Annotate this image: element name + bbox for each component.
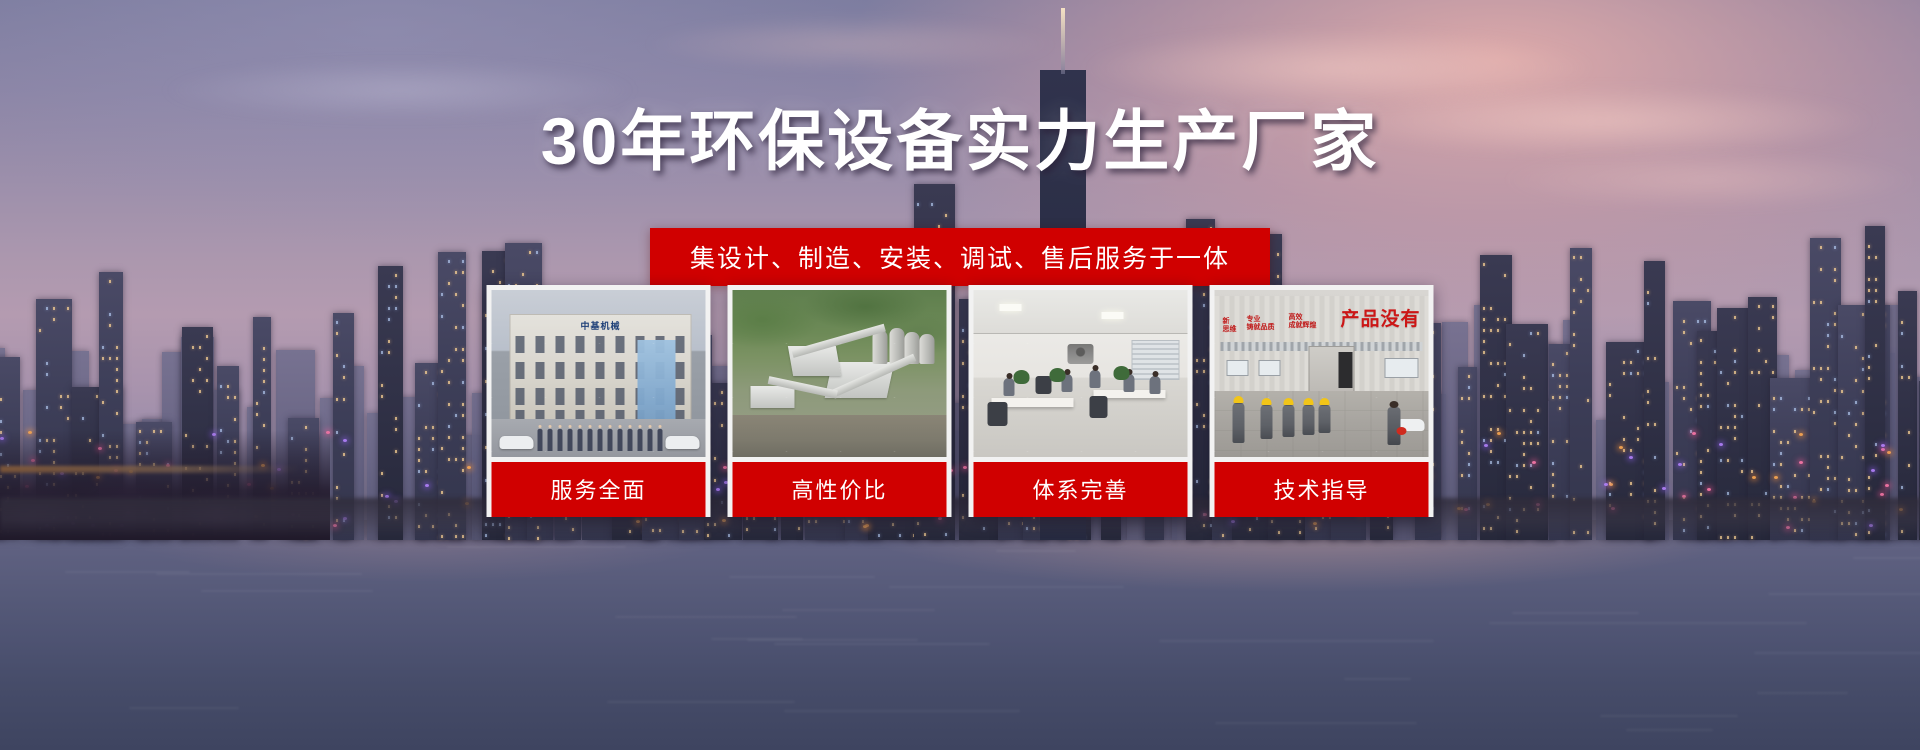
window-light	[1834, 378, 1836, 381]
window-light	[1623, 416, 1625, 419]
window-light	[1516, 464, 1518, 467]
window-light	[1727, 382, 1729, 385]
window-light	[448, 436, 450, 439]
office-interior-photo	[974, 290, 1188, 457]
window-light	[455, 414, 457, 417]
window-light	[1875, 256, 1877, 259]
window-light	[67, 395, 69, 398]
window-light	[1683, 463, 1685, 466]
window-light	[1559, 374, 1561, 377]
window-light	[1490, 461, 1492, 464]
window-light	[1855, 401, 1857, 404]
window-light	[1461, 430, 1463, 433]
window-light	[395, 417, 397, 420]
window-light	[1741, 470, 1743, 473]
window-light	[1697, 320, 1699, 323]
window-light	[1820, 455, 1822, 458]
window-light	[1820, 301, 1822, 304]
window-light	[256, 413, 258, 416]
company-building-photo: 中基机械	[492, 290, 706, 457]
window-light	[536, 251, 538, 254]
window-light	[192, 379, 194, 382]
water-ripple	[729, 576, 875, 578]
window-light	[462, 326, 464, 329]
window-light	[1490, 439, 1492, 442]
window-light	[1734, 415, 1736, 418]
window-light	[1566, 396, 1568, 399]
window-light	[116, 368, 118, 371]
window-light	[1834, 422, 1836, 425]
window-light	[199, 390, 201, 393]
window-light	[109, 357, 111, 360]
hero-banner: 30年环保设备实力生产厂家 集设计、制造、安装、调试、售后服务于一体 中基机械	[0, 0, 1920, 750]
window-light	[1855, 346, 1857, 349]
window-light	[336, 321, 338, 324]
window-light	[388, 318, 390, 321]
window-light	[1497, 428, 1499, 431]
water-ripple	[607, 701, 795, 703]
window-light	[1523, 354, 1525, 357]
window-light	[336, 486, 338, 489]
window-light	[448, 403, 450, 406]
window-light	[1855, 423, 1857, 426]
subtitle-badge: 集设计、制造、安装、调试、售后服务于一体	[650, 228, 1270, 286]
window-light	[1483, 351, 1485, 354]
window-light	[1741, 415, 1743, 418]
window-light	[1734, 360, 1736, 363]
window-light	[448, 260, 450, 263]
window-light	[462, 359, 464, 362]
window-light	[1497, 461, 1499, 464]
window-light	[1758, 349, 1760, 352]
window-light	[227, 396, 229, 399]
window-light	[60, 406, 62, 409]
window-light	[1908, 376, 1910, 379]
watermark-overlay	[733, 290, 947, 457]
window-light	[1654, 357, 1656, 360]
window-light	[462, 436, 464, 439]
water-ripple	[784, 710, 1021, 712]
window-light	[462, 260, 464, 263]
window-light	[462, 304, 464, 307]
window-light	[1875, 289, 1877, 292]
window-light	[1580, 465, 1582, 468]
window-light	[1609, 383, 1611, 386]
window-light	[46, 362, 48, 365]
window-light	[1834, 246, 1836, 249]
window-light	[1587, 399, 1589, 402]
window-light	[1820, 268, 1822, 271]
window-light	[448, 359, 450, 362]
building	[1810, 238, 1841, 540]
window-light	[1773, 397, 1775, 400]
window-light	[1700, 361, 1702, 364]
window-light	[1623, 449, 1625, 452]
window-light	[1868, 245, 1870, 248]
window-light	[1751, 470, 1753, 473]
window-light	[116, 346, 118, 349]
window-light	[1490, 450, 1492, 453]
window-light	[1683, 386, 1685, 389]
window-light	[1751, 371, 1753, 374]
water-ripple	[782, 609, 935, 611]
window-light	[336, 431, 338, 434]
window-light	[1683, 320, 1685, 323]
window-light	[1787, 485, 1789, 488]
aerial-plant-photo	[733, 290, 947, 457]
window-light	[1734, 426, 1736, 429]
window-light	[448, 458, 450, 461]
feature-card-label: 技术指导	[1215, 462, 1429, 517]
feature-card[interactable]: 体系完善	[969, 285, 1193, 517]
window-light	[1700, 372, 1702, 375]
window-light	[67, 307, 69, 310]
window-light	[395, 285, 397, 288]
window-light	[462, 414, 464, 417]
window-light	[1834, 323, 1836, 326]
city-light	[1799, 433, 1803, 436]
window-light	[455, 458, 457, 461]
window-light	[227, 385, 229, 388]
tower-spire	[1061, 8, 1065, 74]
window-light	[1277, 253, 1279, 256]
window-light	[1794, 474, 1796, 477]
window-light	[336, 398, 338, 401]
window-light	[432, 382, 434, 385]
window-light	[395, 428, 397, 431]
window-light	[1630, 449, 1632, 452]
window-light	[1490, 395, 1492, 398]
window-light	[1537, 431, 1539, 434]
window-light	[1720, 371, 1722, 374]
window-light	[1827, 466, 1829, 469]
window-light	[1820, 367, 1822, 370]
window-light	[1647, 302, 1649, 305]
window-light	[263, 391, 265, 394]
window-light	[263, 347, 265, 350]
window-light	[1523, 409, 1525, 412]
water-ripple	[1215, 722, 1418, 724]
window-light	[53, 318, 55, 321]
window-light	[931, 203, 933, 206]
window-light	[1813, 301, 1815, 304]
window-light	[1908, 431, 1910, 434]
window-light	[1780, 463, 1782, 466]
window-light	[1758, 371, 1760, 374]
window-light	[388, 351, 390, 354]
window-light	[343, 398, 345, 401]
window-light	[1700, 383, 1702, 386]
window-light	[1483, 263, 1485, 266]
water-ripple	[615, 616, 797, 618]
window-light	[418, 470, 420, 473]
window-light	[1490, 428, 1492, 431]
water-ripple	[1853, 557, 1920, 559]
window-light	[1720, 426, 1722, 429]
window-light	[1580, 278, 1582, 281]
window-light	[1580, 300, 1582, 303]
window-light	[1741, 459, 1743, 462]
window-light	[1630, 372, 1632, 375]
window-light	[1834, 312, 1836, 315]
window-light	[1720, 459, 1722, 462]
window-light	[1468, 397, 1470, 400]
window-light	[1490, 329, 1492, 332]
window-light	[455, 348, 457, 351]
window-light	[1841, 335, 1843, 338]
water-ripple	[1768, 593, 1920, 595]
window-light	[448, 282, 450, 285]
window-light	[1623, 372, 1625, 375]
window-light	[1490, 362, 1492, 365]
window-light	[1707, 405, 1709, 408]
window-light	[395, 307, 397, 310]
window-light	[1827, 488, 1829, 491]
window-light	[192, 346, 194, 349]
page-title: 30年环保设备实力生产厂家	[0, 108, 1920, 174]
window-light	[116, 390, 118, 393]
window-light	[1780, 397, 1782, 400]
window-light	[1827, 477, 1829, 480]
window-light	[109, 324, 111, 327]
window-light	[1647, 357, 1649, 360]
window-light	[53, 307, 55, 310]
window-light	[1855, 489, 1857, 492]
window-light	[1552, 440, 1554, 443]
water-ripple	[1512, 612, 1639, 614]
window-light	[336, 332, 338, 335]
factory-workers-photo: 产品没有 新思维 专业铸就品质 高效成就辉煌	[1215, 290, 1429, 457]
window-light	[1848, 478, 1850, 481]
window-light	[1901, 376, 1903, 379]
watermark-overlay	[492, 290, 706, 457]
window-light	[1637, 427, 1639, 430]
window-light	[1683, 331, 1685, 334]
window-light	[418, 437, 420, 440]
window-light	[1483, 439, 1485, 442]
feature-card[interactable]: 产品没有 新思维 专业铸就品质 高效成就辉煌	[1210, 285, 1434, 517]
window-light	[1523, 431, 1525, 434]
window-light	[1772, 305, 1774, 308]
window-light	[46, 373, 48, 376]
window-light	[1820, 488, 1822, 491]
window-light	[1523, 464, 1525, 467]
window-light	[1623, 361, 1625, 364]
window-light	[388, 285, 390, 288]
water-ripple	[65, 571, 190, 573]
window-light	[199, 346, 201, 349]
window-light	[1530, 442, 1532, 445]
window-light	[1834, 279, 1836, 282]
window-light	[116, 357, 118, 360]
window-light	[1734, 349, 1736, 352]
window-light	[1908, 464, 1910, 467]
window-light	[448, 381, 450, 384]
window-light	[1734, 437, 1736, 440]
window-light	[1700, 460, 1702, 463]
window-light	[432, 448, 434, 451]
window-light	[1566, 440, 1568, 443]
window-light	[1580, 256, 1582, 259]
window-light	[1559, 385, 1561, 388]
feature-card-label: 服务全面	[492, 462, 706, 517]
window-light	[1483, 340, 1485, 343]
window-light	[1868, 355, 1870, 358]
window-light	[1552, 363, 1554, 366]
window-light	[1468, 474, 1470, 477]
city-light	[1707, 488, 1711, 491]
window-light	[1690, 342, 1692, 345]
window-light	[455, 271, 457, 274]
window-light	[1868, 487, 1870, 490]
window-light	[1875, 300, 1877, 303]
window-light	[1848, 489, 1850, 492]
window-light	[1862, 390, 1864, 393]
feature-card[interactable]: 中基机械 服务全面	[487, 285, 711, 517]
window-light	[1794, 430, 1796, 433]
window-light	[1758, 327, 1760, 330]
window-light	[1727, 492, 1729, 495]
window-light	[263, 358, 265, 361]
window-light	[1834, 389, 1836, 392]
window-light	[82, 417, 84, 420]
window-light	[1780, 441, 1782, 444]
window-light	[1714, 350, 1716, 353]
window-light	[1862, 368, 1864, 371]
window-light	[1573, 311, 1575, 314]
window-light	[0, 420, 2, 423]
feature-card[interactable]: 高性价比	[728, 285, 952, 517]
window-light	[343, 453, 345, 456]
water-ripple	[1344, 678, 1412, 680]
window-light	[1813, 411, 1815, 414]
window-light	[1573, 333, 1575, 336]
window-light	[1758, 404, 1760, 407]
window-light	[1700, 471, 1702, 474]
window-light	[381, 395, 383, 398]
window-light	[1559, 396, 1561, 399]
window-light	[1827, 334, 1829, 337]
window-light	[1868, 289, 1870, 292]
window-light	[1566, 374, 1568, 377]
window-light	[395, 296, 397, 299]
window-light	[1734, 404, 1736, 407]
window-light	[1530, 332, 1532, 335]
window-light	[1530, 464, 1532, 467]
window-light	[1813, 367, 1815, 370]
window-light	[1523, 376, 1525, 379]
window-light	[1827, 323, 1829, 326]
window-light	[1654, 423, 1656, 426]
window-light	[336, 354, 338, 357]
window-light	[1504, 274, 1506, 277]
window-light	[1700, 405, 1702, 408]
window-light	[1630, 493, 1632, 496]
window-light	[1497, 318, 1499, 321]
window-light	[381, 472, 383, 475]
window-light	[1765, 360, 1767, 363]
window-light	[1468, 375, 1470, 378]
window-light	[220, 385, 222, 388]
window-light	[1504, 318, 1506, 321]
city-light	[1887, 451, 1891, 454]
window-light	[381, 384, 383, 387]
window-light	[1490, 307, 1492, 310]
window-light	[1468, 463, 1470, 466]
window-light	[305, 426, 307, 429]
window-light	[102, 401, 104, 404]
window-light	[263, 369, 265, 372]
window-light	[1727, 404, 1729, 407]
window-light	[1552, 396, 1554, 399]
window-light	[1530, 486, 1532, 489]
window-light	[263, 380, 265, 383]
window-light	[1683, 397, 1685, 400]
window-light	[441, 370, 443, 373]
water-ripple	[1159, 640, 1433, 642]
window-light	[1552, 462, 1554, 465]
feature-card-label: 体系完善	[974, 462, 1188, 517]
city-light	[425, 484, 429, 487]
water-ripple	[1626, 729, 1713, 731]
window-light	[1868, 476, 1870, 479]
window-light	[1552, 473, 1554, 476]
window-light	[1773, 463, 1775, 466]
window-light	[441, 293, 443, 296]
window-light	[1820, 378, 1822, 381]
window-light	[1875, 454, 1877, 457]
window-light	[206, 357, 208, 360]
city-light	[1497, 432, 1501, 435]
window-light	[1868, 377, 1870, 380]
window-light	[1468, 452, 1470, 455]
window-light	[102, 357, 104, 360]
window-light	[1855, 379, 1857, 382]
window-light	[1714, 361, 1716, 364]
window-light	[1875, 443, 1877, 446]
city-light	[1799, 461, 1803, 464]
window-light	[1875, 278, 1877, 281]
water-ripple	[447, 546, 626, 548]
window-light	[1637, 372, 1639, 375]
window-light	[1461, 441, 1463, 444]
window-light	[441, 315, 443, 318]
window-light	[1587, 289, 1589, 292]
city-light	[343, 439, 347, 442]
window-light	[1773, 430, 1775, 433]
window-light	[1654, 489, 1656, 492]
window-light	[1566, 385, 1568, 388]
window-light	[1765, 492, 1767, 495]
window-light	[462, 348, 464, 351]
window-light	[1509, 343, 1511, 346]
window-light	[1862, 357, 1864, 360]
window-light	[1834, 411, 1836, 414]
window-light	[1772, 316, 1774, 319]
watermark-overlay	[974, 290, 1188, 457]
window-light	[39, 329, 41, 332]
window-light	[1862, 456, 1864, 459]
window-light	[1623, 438, 1625, 441]
window-light	[1827, 400, 1829, 403]
window-light	[492, 270, 494, 273]
window-light	[1868, 256, 1870, 259]
city-light	[1678, 463, 1682, 466]
window-light	[343, 376, 345, 379]
window-light	[1676, 386, 1678, 389]
window-light	[102, 346, 104, 349]
window-light	[1690, 408, 1692, 411]
